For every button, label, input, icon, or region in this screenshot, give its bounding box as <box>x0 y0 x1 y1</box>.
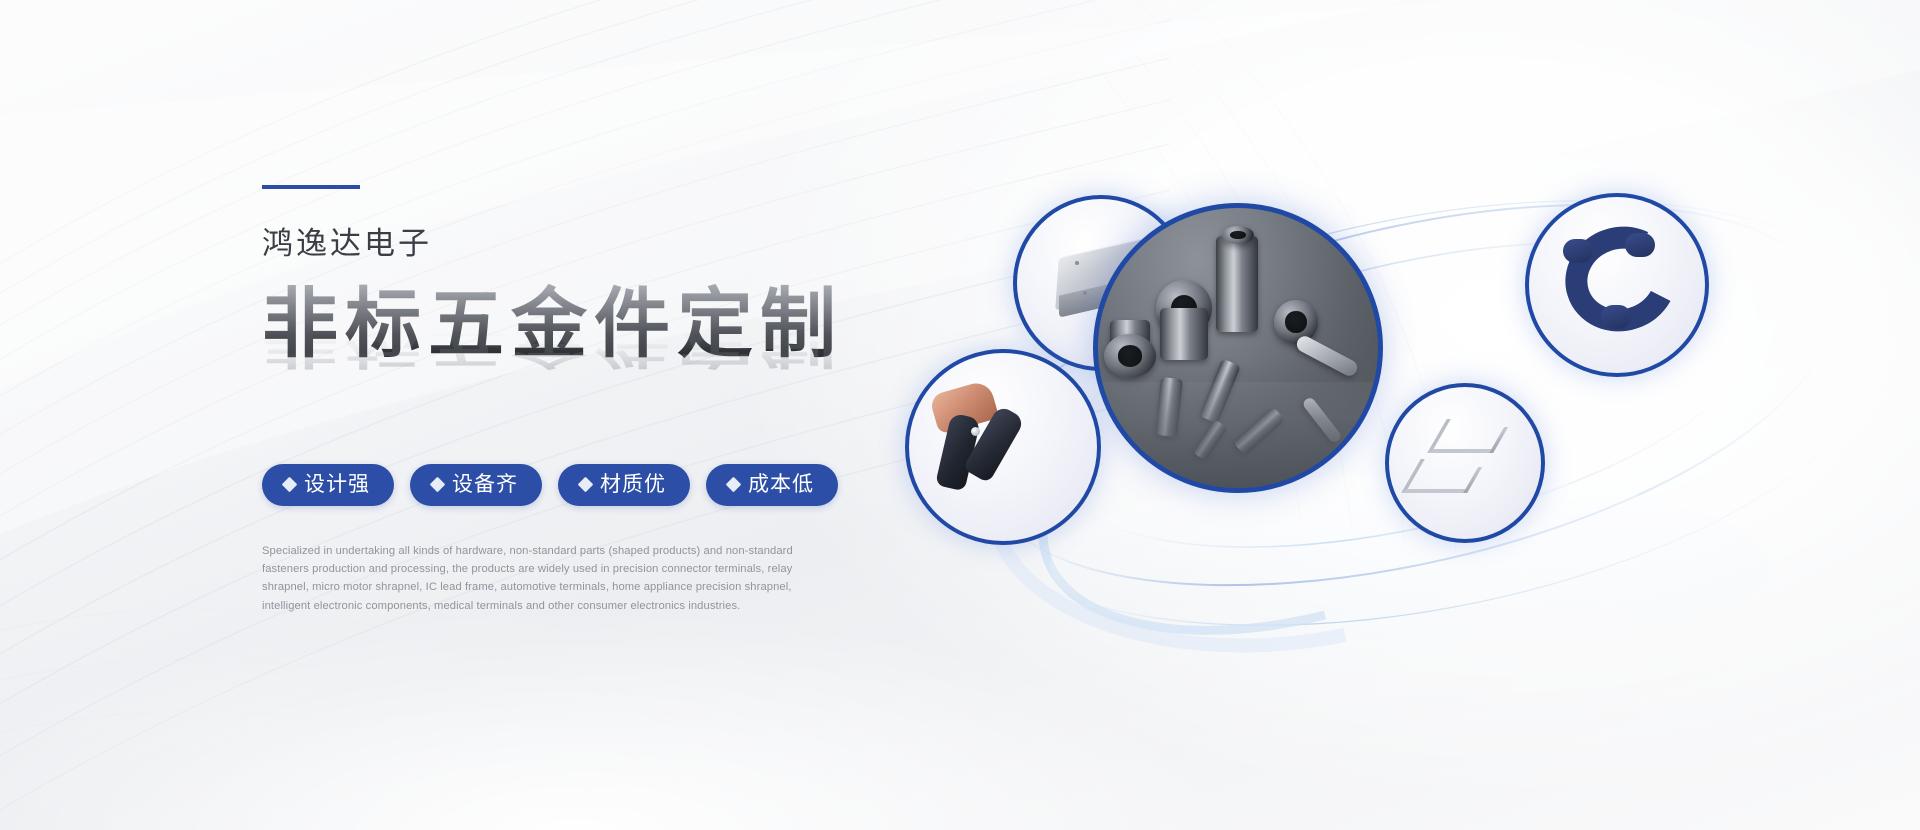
scene-floor-reflection <box>1098 382 1378 488</box>
metal-socket-part <box>1274 300 1318 344</box>
precision-hardware-parts-photo <box>1098 208 1378 488</box>
box-screw-hole <box>1083 291 1087 295</box>
product-showcase <box>905 95 1915 695</box>
diamond-icon <box>430 477 446 493</box>
metal-spark-part <box>1199 359 1241 424</box>
node-blue-retaining-clip[interactable] <box>1525 193 1709 377</box>
metal-lever-part <box>1294 333 1360 378</box>
metal-elbow-part <box>1233 406 1285 456</box>
feature-badge-label: 设备齐 <box>452 474 518 495</box>
metal-bracket-part <box>1301 396 1342 444</box>
metal-flange-part <box>1104 334 1156 378</box>
wire-form-part <box>1427 419 1511 453</box>
metal-sleeve-part <box>1160 308 1208 360</box>
metal-cylinder-part <box>1216 236 1258 332</box>
feature-badge-label: 材质优 <box>600 474 666 495</box>
company-name: 鸿逸达电子 <box>262 225 942 262</box>
hero-banner: 鸿逸达电子 非标五金件定制 非标五金件定制 设计强 设备齐 材质优 成本低 <box>0 0 1920 830</box>
feature-badge-cost[interactable]: 成本低 <box>706 464 838 506</box>
blue-retaining-clip-photo <box>1529 197 1705 373</box>
box-screw-hole <box>1075 261 1079 265</box>
diamond-icon <box>726 477 742 493</box>
description-text: Specialized in undertaking all kinds of … <box>262 542 827 615</box>
hero-text-block: 鸿逸达电子 非标五金件定制 非标五金件定制 设计强 设备齐 材质优 成本低 <box>262 185 942 615</box>
clip-lug <box>1563 239 1593 263</box>
copper-clamp-photo <box>909 353 1097 541</box>
node-precision-hardware-parts[interactable] <box>1093 203 1383 493</box>
feature-badge-label: 设计强 <box>304 474 370 495</box>
feature-badge-list: 设计强 设备齐 材质优 成本低 <box>262 464 942 506</box>
node-copper-clamp[interactable] <box>905 349 1101 545</box>
diamond-icon <box>578 477 594 493</box>
clip-lug <box>1625 233 1655 257</box>
metal-pin-part <box>1155 377 1183 437</box>
feature-badge-material[interactable]: 材质优 <box>558 464 690 506</box>
feature-badge-label: 成本低 <box>748 474 814 495</box>
wire-form-part <box>1401 459 1485 493</box>
headline-wrapper: 非标五金件定制 非标五金件定制 <box>262 284 942 416</box>
feature-badge-equipment[interactable]: 设备齐 <box>410 464 542 506</box>
clamp-pivot-screw <box>971 427 980 436</box>
node-wire-form-parts[interactable] <box>1385 383 1545 543</box>
clip-lug <box>1601 305 1631 329</box>
wire-form-parts-photo <box>1389 387 1541 539</box>
feature-badge-design[interactable]: 设计强 <box>262 464 394 506</box>
diamond-icon <box>282 477 298 493</box>
accent-bar <box>262 185 360 189</box>
page-title: 非标五金件定制 <box>262 284 942 366</box>
metal-terminal-part <box>1192 419 1228 461</box>
metal-ring-part <box>1222 226 1254 244</box>
